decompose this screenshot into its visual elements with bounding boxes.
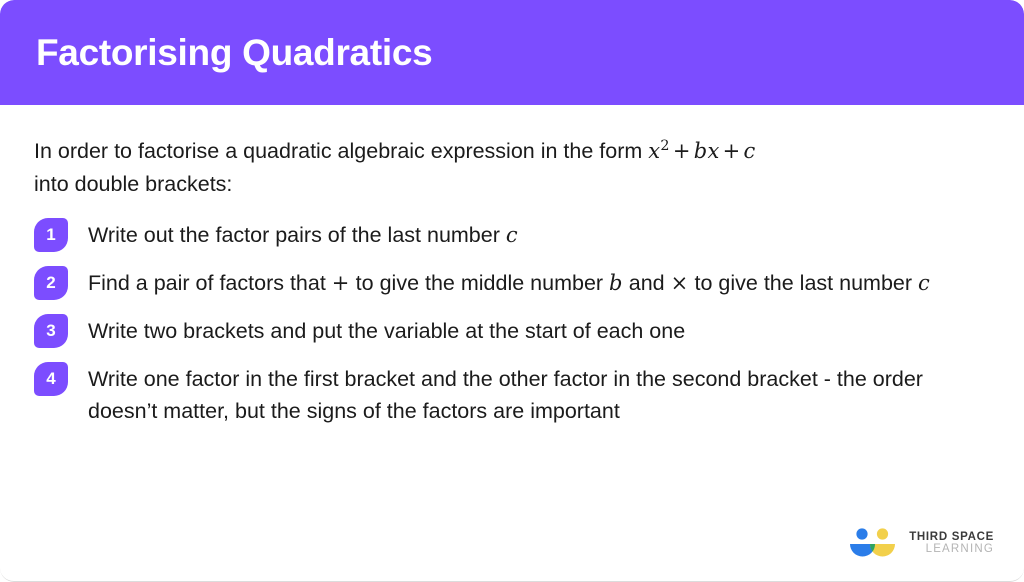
- step-text-1: Write out the factor pairs of the last n…: [88, 217, 518, 252]
- step-2-part-c: and: [623, 271, 671, 295]
- math-term-bx: bx: [694, 139, 720, 163]
- intro-text-before-math: In order to factorise a quadratic algebr…: [34, 139, 648, 163]
- step-badge-3: 3: [34, 314, 68, 348]
- step-2-math-plus: +: [332, 271, 350, 295]
- steps-list: 1 Write out the factor pairs of the last…: [34, 217, 990, 428]
- math-operator-plus-1: +: [670, 139, 694, 163]
- list-item: 1 Write out the factor pairs of the last…: [34, 217, 990, 252]
- card-header: Factorising Quadratics: [0, 0, 1024, 105]
- step-2-math-times: ×: [671, 271, 689, 295]
- step-2-part-a: Find a pair of factors that: [88, 271, 332, 295]
- step-2-part-b: to give the middle number: [350, 271, 609, 295]
- step-1-math-c: c: [506, 223, 518, 247]
- step-badge-4: 4: [34, 362, 68, 396]
- brand-name-line2: LEARNING: [926, 543, 994, 555]
- step-badge-2: 2: [34, 266, 68, 300]
- step-badge-1: 1: [34, 218, 68, 252]
- brand-logo-text: THIRD SPACE LEARNING: [909, 531, 994, 555]
- math-operator-plus-2: +: [720, 139, 744, 163]
- step-text-4: Write one factor in the first bracket an…: [88, 361, 990, 428]
- list-item: 4 Write one factor in the first bracket …: [34, 361, 990, 428]
- list-item: 2 Find a pair of factors that + to give …: [34, 265, 990, 300]
- intro-math-expression: x2+bx+c: [648, 139, 755, 163]
- math-variable-x: x: [648, 139, 660, 163]
- intro-paragraph: In order to factorise a quadratic algebr…: [34, 135, 990, 201]
- math-exponent-2: 2: [660, 138, 669, 154]
- page-title: Factorising Quadratics: [36, 34, 432, 71]
- list-item: 3 Write two brackets and put the variabl…: [34, 313, 990, 348]
- lesson-card: Factorising Quadratics In order to facto…: [0, 0, 1024, 582]
- step-1-part-a: Write out the factor pairs of the last n…: [88, 223, 506, 247]
- step-text-2: Find a pair of factors that + to give th…: [88, 265, 930, 300]
- step-2-math-c: c: [918, 271, 930, 295]
- step-2-math-b: b: [609, 271, 623, 295]
- brand-logo: THIRD SPACE LEARNING: [847, 527, 994, 559]
- math-term-c: c: [744, 139, 756, 163]
- brand-name-line1: THIRD SPACE: [909, 531, 994, 543]
- card-body: In order to factorise a quadratic algebr…: [0, 105, 1024, 427]
- step-text-3: Write two brackets and put the variable …: [88, 313, 685, 347]
- step-2-part-d: to give the last number: [689, 271, 918, 295]
- intro-text-after-math: into double brackets:: [34, 172, 232, 196]
- third-space-learning-logo-icon: [847, 527, 899, 559]
